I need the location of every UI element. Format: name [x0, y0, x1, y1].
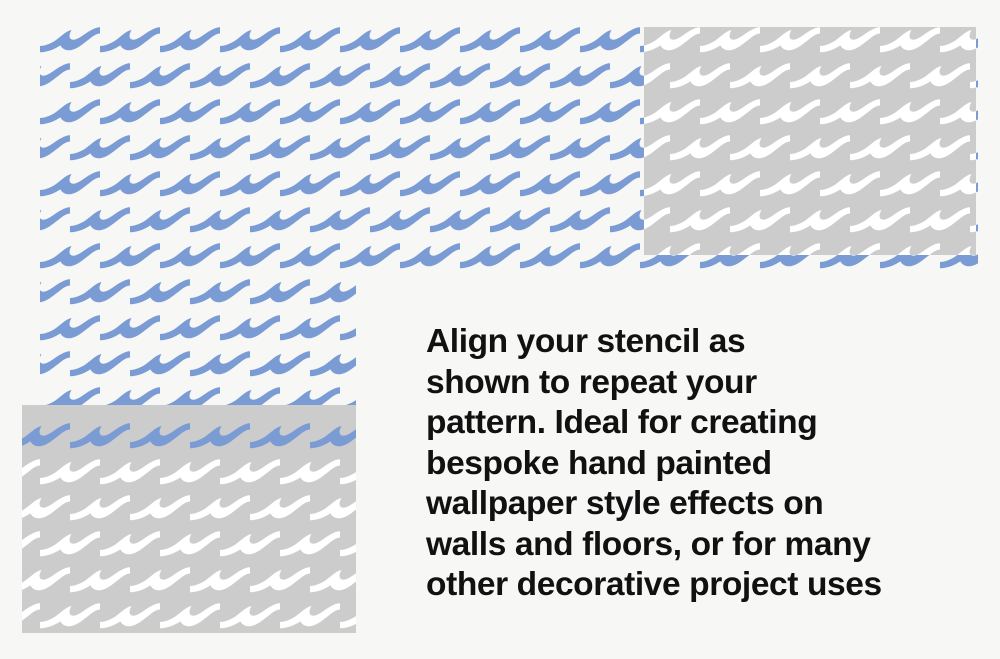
stencil-cutout-wave-row — [22, 458, 356, 488]
stencil-cutout-wave-row — [644, 134, 976, 164]
stencil-cutout-wave-row — [22, 602, 356, 632]
caption-text: Align your stencil as shown to repeat yo… — [426, 322, 946, 606]
stencil-cutout-wave-row — [644, 98, 976, 128]
stencil-cutout-wave-row — [644, 242, 976, 255]
stencil-instruction-graphic: Align your stencil as shown to repeat yo… — [0, 0, 1000, 659]
stencil-sheet-top-right — [644, 27, 976, 255]
painted-wave-row — [40, 314, 356, 344]
stencil-cutout-wave-row — [22, 494, 356, 524]
stencil-painted-wave-row — [22, 422, 356, 452]
stencil-cutout-wave-row — [22, 566, 356, 596]
painted-wave-row — [40, 278, 356, 308]
stencil-cutout-wave-row — [644, 170, 976, 200]
stencil-cutout-wave-row — [644, 62, 976, 92]
painted-wave-row — [40, 350, 356, 380]
stencil-cutout-wave-row — [644, 206, 976, 236]
stencil-cutout-wave-row — [22, 530, 356, 560]
stencil-sheet-bottom-left — [22, 405, 356, 633]
stencil-cutout-wave-row — [644, 27, 976, 56]
